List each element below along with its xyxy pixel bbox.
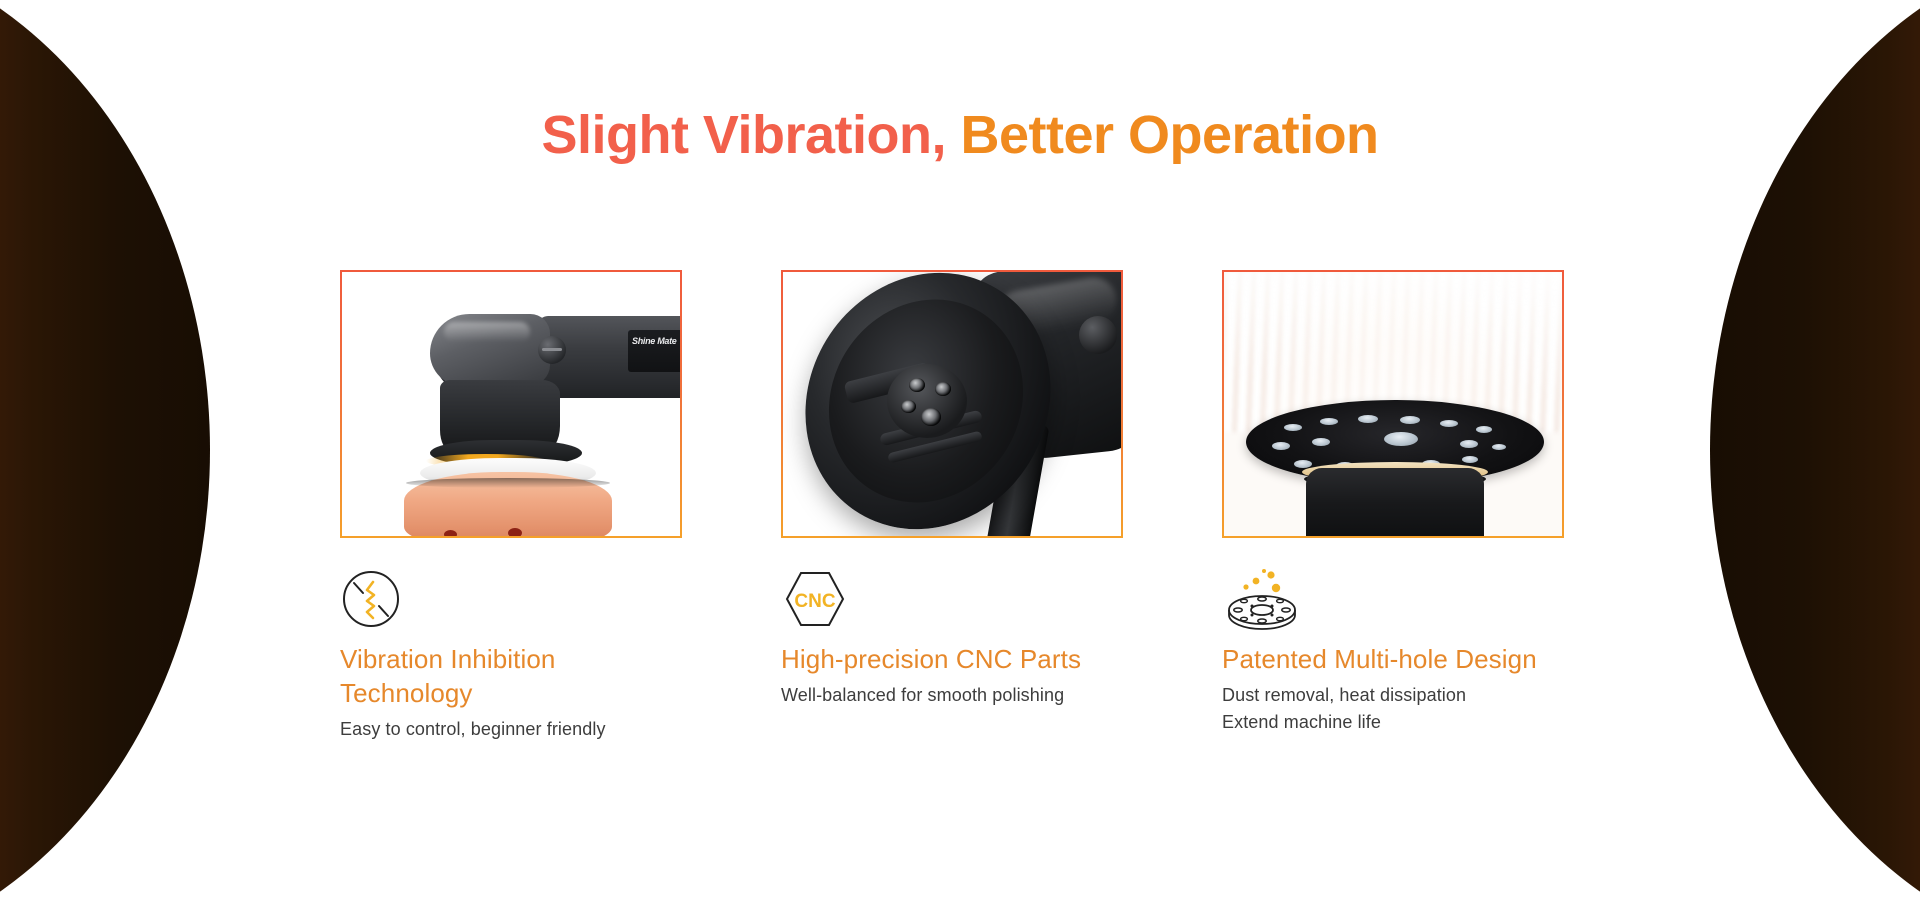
promo-banner: Slight Vibration, Better Operation Shine… xyxy=(0,0,1920,900)
banner-title: Slight Vibration, Better Operation xyxy=(0,104,1920,166)
feature-column-cnc: CNC High-precision CNC Parts Well-balanc… xyxy=(781,270,1123,743)
feature-desc-1: Easy to control, beginner friendly xyxy=(340,716,682,743)
feature-photo-frame-2 xyxy=(781,270,1123,538)
feature-heading-2: High-precision CNC Parts xyxy=(781,642,1123,676)
feature-column-vibration: Shine Mate xyxy=(340,270,682,743)
feature-heading-1: Vibration Inhibition Technology xyxy=(340,642,682,710)
feature-desc-3-line1: Dust removal, heat dissipation xyxy=(1222,685,1466,705)
feature-photo-frame-3 xyxy=(1222,270,1564,538)
banner-title-part-b: Better Operation xyxy=(946,105,1379,165)
product-brand-label: Shine Mate xyxy=(628,330,680,372)
vibration-circle-icon xyxy=(340,568,402,630)
feature-heading-3: Patented Multi-hole Design xyxy=(1222,642,1564,676)
feature-desc-2: Well-balanced for smooth polishing xyxy=(781,682,1123,709)
feature-column-multihole: Patented Multi-hole Design Dust removal,… xyxy=(1222,270,1564,743)
feature-photo-2 xyxy=(783,272,1121,536)
cnc-icon-label: CNC xyxy=(794,591,835,612)
feature-desc-2-line1: Well-balanced for smooth polishing xyxy=(781,685,1064,705)
multi-hole-disc-icon xyxy=(1222,568,1302,630)
left-edge-decoration xyxy=(0,0,210,900)
feature-icon-3 xyxy=(1222,568,1564,630)
feature-photo-3 xyxy=(1224,272,1562,536)
feature-desc-3: Dust removal, heat dissipation Extend ma… xyxy=(1222,682,1564,736)
feature-icon-2: CNC xyxy=(781,568,1123,630)
feature-desc-1-line1: Easy to control, beginner friendly xyxy=(340,719,606,739)
product-brand-text: Shine Mate xyxy=(632,336,677,347)
right-edge-decoration xyxy=(1710,0,1920,900)
feature-columns: Shine Mate xyxy=(340,270,1564,743)
feature-photo-1: Shine Mate xyxy=(342,272,680,536)
banner-title-part-a: Slight Vibration, xyxy=(541,105,946,165)
cnc-hexagon-icon: CNC xyxy=(781,568,849,630)
feature-desc-3-line2: Extend machine life xyxy=(1222,709,1564,736)
feature-photo-frame-1: Shine Mate xyxy=(340,270,682,538)
feature-icon-1 xyxy=(340,568,682,630)
